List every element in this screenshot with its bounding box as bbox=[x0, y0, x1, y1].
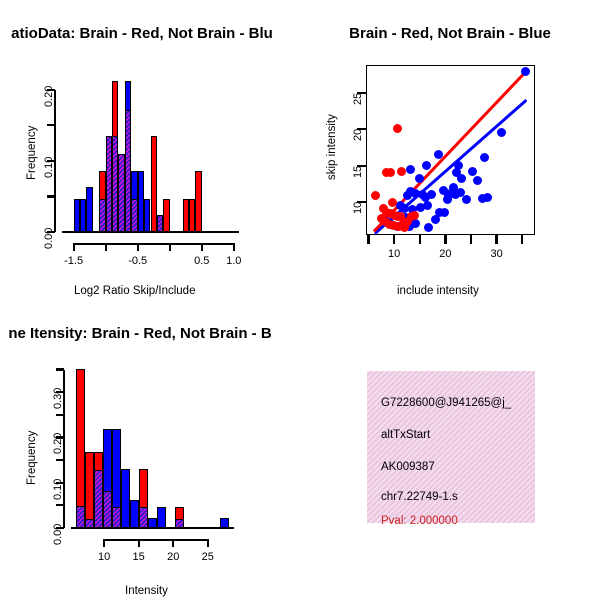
x-tick bbox=[495, 235, 497, 244]
x-tick bbox=[367, 235, 369, 244]
hist-bar-overlap bbox=[139, 507, 148, 528]
y-tick bbox=[56, 368, 64, 370]
scatter-point-red bbox=[397, 167, 406, 176]
scatter-point-blue bbox=[431, 215, 440, 224]
hist-bar-overlap bbox=[175, 519, 184, 528]
x-tick-label: 25 bbox=[202, 551, 214, 563]
x-tick-label: 10 bbox=[98, 551, 110, 563]
x-tick-label: 20 bbox=[439, 248, 451, 260]
x-tick bbox=[73, 243, 75, 251]
x-tick-label: 10 bbox=[388, 248, 400, 260]
x-tick bbox=[419, 235, 421, 244]
x-tick-label: 20 bbox=[167, 551, 179, 563]
scatter-point-red bbox=[388, 198, 397, 207]
y-tick-label: 10 bbox=[352, 202, 364, 214]
x-tick bbox=[105, 243, 107, 251]
y-tick-label: 0.10 bbox=[43, 156, 55, 177]
x-tick bbox=[201, 243, 203, 251]
hist-bar-overlap bbox=[103, 491, 112, 528]
hist-bar-overlap bbox=[112, 507, 121, 528]
scatter-point-red bbox=[393, 124, 402, 133]
intensity-histogram-panel: ne Itensity: Brain - Red, Not Brain - B … bbox=[0, 310, 300, 600]
x-tick bbox=[207, 539, 209, 547]
info-line-accession: AK009387 bbox=[381, 461, 435, 473]
scatter-point-blue bbox=[406, 165, 415, 174]
ratio-histogram-panel: atioData: Brain - Red, Not Brain - Blu F… bbox=[0, 0, 300, 310]
y-tick bbox=[47, 195, 55, 197]
scatter-point-red bbox=[410, 211, 419, 220]
y-tick-label: 20 bbox=[352, 129, 364, 141]
annotation-info-panel: G7228600@J941265@j_ altTxStart AK009387 … bbox=[367, 371, 535, 523]
x-axis-line bbox=[74, 243, 234, 245]
info-line-event: altTxStart bbox=[381, 429, 430, 441]
ratio-histogram-plot-area: 0.000.100.20-1.5-0.50.51.0 bbox=[0, 0, 300, 310]
x-tick bbox=[172, 539, 174, 547]
intensity-scatter-plot-area: 10152025102030 bbox=[300, 0, 600, 310]
scatter-point-blue bbox=[521, 67, 530, 76]
y-tick-label: 0.10 bbox=[52, 478, 64, 499]
scatter-point-blue bbox=[468, 167, 477, 176]
x-tick-label: 15 bbox=[133, 551, 145, 563]
x-tick bbox=[521, 235, 523, 244]
scatter-point-red bbox=[386, 168, 395, 177]
y-tick-label: 0.30 bbox=[52, 388, 64, 409]
y-tick bbox=[56, 414, 64, 416]
y-tick-label: 0.00 bbox=[52, 524, 64, 545]
y-tick bbox=[56, 459, 64, 461]
scatter-point-blue bbox=[497, 128, 506, 137]
x-tick bbox=[233, 243, 235, 251]
info-line-locus: chr7.22749-1.s bbox=[381, 491, 458, 503]
hist-bar-blue bbox=[121, 469, 130, 528]
intensity-scatter-panel: Brain - Red, Not Brain - Blue skip inten… bbox=[300, 0, 600, 310]
hist-bar-red bbox=[163, 199, 169, 232]
x-tick bbox=[393, 235, 395, 244]
x-tick-label: 0.5 bbox=[194, 255, 209, 267]
hist-bar-overlap bbox=[94, 470, 103, 528]
hist-bar-blue bbox=[130, 500, 139, 528]
scatter-point-blue bbox=[483, 193, 492, 202]
y-tick-label: 0.00 bbox=[43, 228, 55, 249]
x-axis-line bbox=[104, 539, 208, 541]
x-tick bbox=[103, 539, 105, 547]
scatter-point-blue bbox=[439, 186, 448, 195]
y-tick-label: 0.20 bbox=[52, 433, 64, 454]
x-tick bbox=[137, 243, 139, 251]
scatter-point-blue bbox=[415, 174, 424, 183]
info-line-probe: G7228600@J941265@j_ bbox=[381, 397, 511, 409]
scatter-point-blue bbox=[456, 188, 465, 197]
hist-bar-blue bbox=[157, 507, 166, 528]
hist-bar-red bbox=[76, 369, 85, 528]
y-tick-label: 25 bbox=[352, 92, 364, 104]
hist-bar-blue bbox=[86, 187, 92, 232]
x-tick bbox=[470, 235, 472, 244]
x-tick-label: 30 bbox=[490, 248, 502, 260]
x-tick-label: -0.5 bbox=[128, 255, 147, 267]
y-tick bbox=[47, 124, 55, 126]
y-tick-label: 15 bbox=[352, 165, 364, 177]
info-line-pvalue: Pval: 2.000000 bbox=[381, 515, 458, 527]
hist-bar-red bbox=[85, 452, 94, 528]
scatter-point-blue bbox=[434, 150, 443, 159]
scatter-point-blue bbox=[473, 176, 482, 185]
scatter-point-blue bbox=[423, 201, 432, 210]
x-tick bbox=[138, 539, 140, 547]
x-tick-label: -1.5 bbox=[64, 255, 83, 267]
x-tick-label: 1.0 bbox=[226, 255, 241, 267]
y-tick-label: 0.20 bbox=[43, 85, 55, 106]
x-tick bbox=[444, 235, 446, 244]
intensity-histogram-plot-area: 0.000.100.200.3010152025 bbox=[0, 310, 300, 600]
hist-bar-blue bbox=[148, 518, 157, 528]
hist-bar-red bbox=[195, 171, 201, 232]
hist-bar-blue bbox=[220, 518, 229, 528]
y-tick bbox=[56, 504, 64, 506]
scatter-point-blue bbox=[427, 190, 436, 199]
hist-bar-overlap bbox=[76, 506, 85, 528]
x-tick bbox=[169, 243, 171, 251]
hist-bar-overlap bbox=[85, 519, 94, 528]
